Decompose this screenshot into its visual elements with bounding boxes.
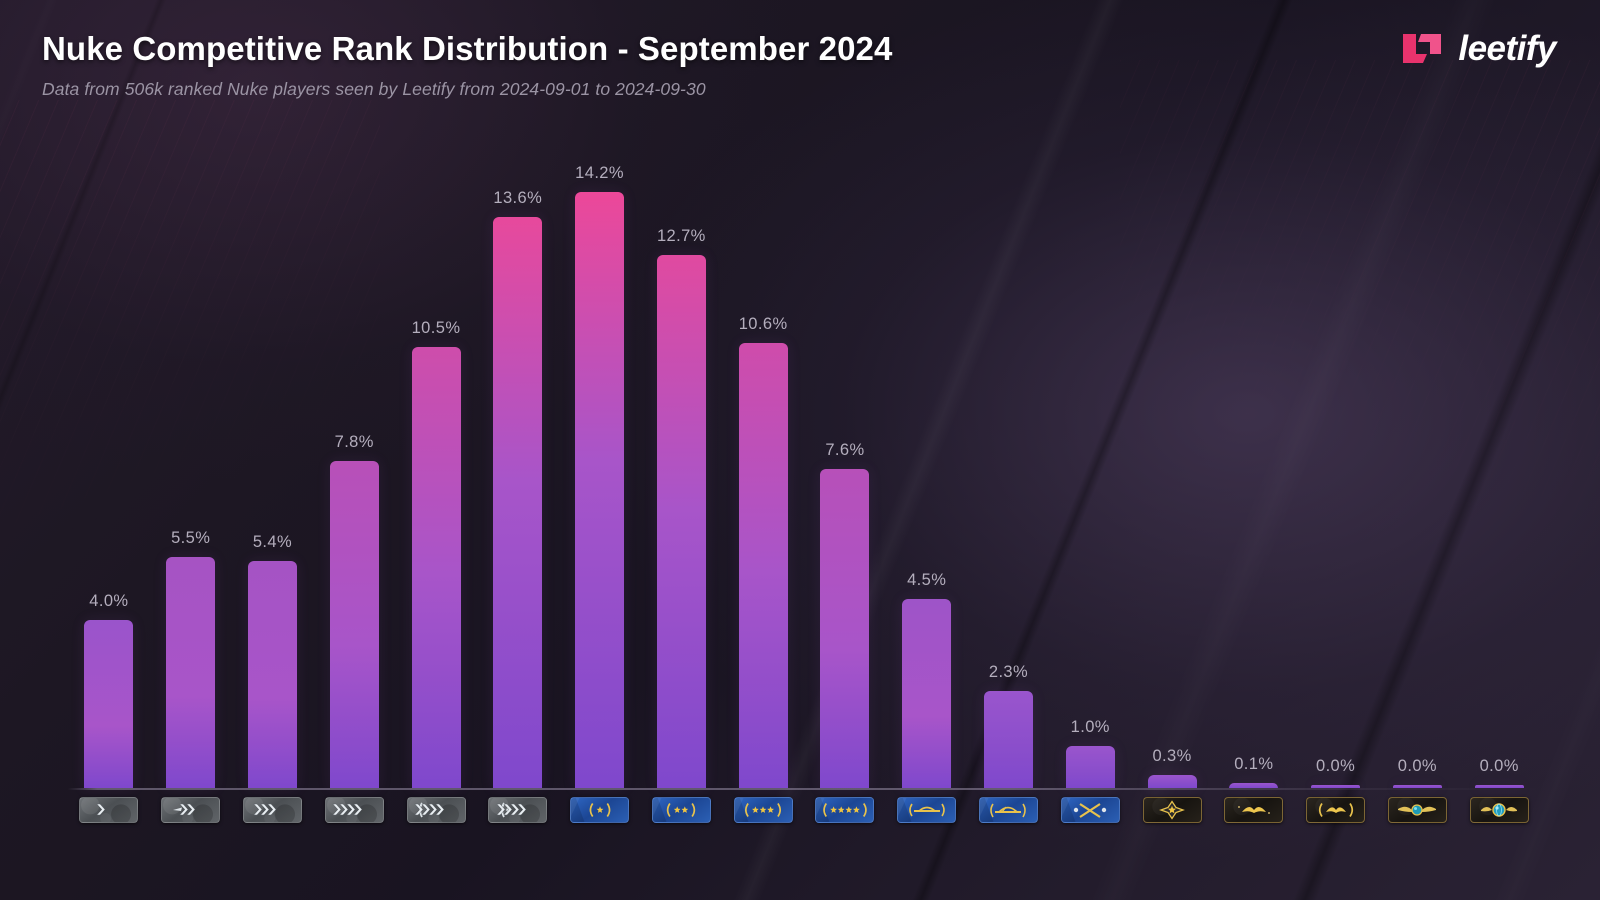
chart-subtitle: Data from 506k ranked Nuke players seen … bbox=[42, 79, 1560, 100]
rank-icon-master-guardian-1[interactable] bbox=[897, 797, 956, 823]
rank-slot bbox=[1049, 797, 1131, 823]
bar-slot[interactable]: 0.3% bbox=[1131, 130, 1213, 788]
bar-value-label: 0.0% bbox=[1377, 757, 1459, 776]
rank-icon-distinguished-master-guardian[interactable] bbox=[1143, 797, 1202, 823]
bar-value-label: 0.0% bbox=[1295, 757, 1377, 776]
bar-value-label: 7.8% bbox=[313, 433, 395, 452]
rank-icon-master-guardian-2[interactable] bbox=[979, 797, 1038, 823]
rank-slot bbox=[886, 797, 968, 823]
rank-icon-silver-elite-master-glyph bbox=[496, 799, 540, 821]
bar[interactable] bbox=[493, 217, 542, 788]
bar-slot[interactable]: 0.0% bbox=[1295, 130, 1377, 788]
rank-icon-silver-elite[interactable] bbox=[407, 797, 466, 823]
rank-icon-gold-nova-master[interactable] bbox=[815, 797, 874, 823]
rank-slot bbox=[68, 797, 150, 823]
rank-slot bbox=[232, 797, 314, 823]
bar[interactable] bbox=[330, 461, 379, 788]
bar-value-label: 5.5% bbox=[150, 529, 232, 548]
rank-slot bbox=[968, 797, 1050, 823]
rank-icon-gold-nova-1-glyph bbox=[578, 799, 622, 821]
bar-slot[interactable]: 4.0% bbox=[68, 130, 150, 788]
bar-slot[interactable]: 2.3% bbox=[968, 130, 1050, 788]
rank-icon-supreme-master-first-class[interactable] bbox=[1388, 797, 1447, 823]
bar[interactable] bbox=[412, 347, 461, 788]
leetify-logo-mark bbox=[1401, 30, 1445, 66]
bar[interactable] bbox=[1066, 746, 1115, 788]
bar-value-label: 0.3% bbox=[1131, 747, 1213, 766]
bar-slot[interactable]: 10.5% bbox=[395, 130, 477, 788]
bar-slot[interactable]: 5.5% bbox=[150, 130, 232, 788]
bar[interactable] bbox=[1148, 775, 1197, 788]
x-axis-line bbox=[68, 788, 1540, 790]
bar-slot[interactable]: 7.6% bbox=[804, 130, 886, 788]
rank-icon-axis bbox=[68, 795, 1540, 825]
rank-icon-legendary-eagle-master-glyph bbox=[1314, 799, 1358, 821]
bar-value-label: 10.6% bbox=[722, 315, 804, 334]
rank-icon-silver-2[interactable] bbox=[161, 797, 220, 823]
rank-icon-silver-3-glyph bbox=[250, 799, 294, 821]
bar-slot[interactable]: 7.8% bbox=[313, 130, 395, 788]
rank-slot bbox=[477, 797, 559, 823]
rank-slot bbox=[150, 797, 232, 823]
bar-value-label: 7.6% bbox=[804, 441, 886, 460]
bar[interactable] bbox=[902, 599, 951, 788]
rank-icon-gold-nova-2[interactable] bbox=[652, 797, 711, 823]
bar-value-label: 5.4% bbox=[232, 533, 314, 552]
bar-slot[interactable]: 0.1% bbox=[1213, 130, 1295, 788]
bar-slot[interactable]: 0.0% bbox=[1458, 130, 1540, 788]
bar[interactable] bbox=[739, 343, 788, 788]
rank-slot bbox=[313, 797, 395, 823]
rank-slot bbox=[1213, 797, 1295, 823]
bar-value-label: 2.3% bbox=[968, 663, 1050, 682]
rank-slot bbox=[722, 797, 804, 823]
bar-value-label: 4.5% bbox=[886, 571, 968, 590]
rank-slot bbox=[640, 797, 722, 823]
rank-slot bbox=[395, 797, 477, 823]
bar-value-label: 12.7% bbox=[640, 227, 722, 246]
rank-icon-silver-4[interactable] bbox=[325, 797, 384, 823]
rank-slot bbox=[1131, 797, 1213, 823]
rank-icon-legendary-eagle-master[interactable] bbox=[1306, 797, 1365, 823]
bar-slot[interactable]: 10.6% bbox=[722, 130, 804, 788]
rank-icon-silver-3[interactable] bbox=[243, 797, 302, 823]
rank-slot bbox=[1295, 797, 1377, 823]
bar-value-label: 14.2% bbox=[559, 164, 641, 183]
rank-icon-master-guardian-elite-glyph bbox=[1068, 799, 1112, 821]
rank-icon-gold-nova-1[interactable] bbox=[570, 797, 629, 823]
rank-icon-master-guardian-elite[interactable] bbox=[1061, 797, 1120, 823]
bar-value-label: 0.0% bbox=[1458, 757, 1540, 776]
bar-value-label: 4.0% bbox=[68, 592, 150, 611]
rank-slot bbox=[1458, 797, 1540, 823]
bar-slot[interactable]: 12.7% bbox=[640, 130, 722, 788]
rank-slot bbox=[559, 797, 641, 823]
rank-icon-legendary-eagle[interactable] bbox=[1224, 797, 1283, 823]
rank-icon-global-elite[interactable] bbox=[1470, 797, 1529, 823]
bar[interactable] bbox=[657, 255, 706, 788]
rank-icon-legendary-eagle-glyph bbox=[1232, 799, 1276, 821]
bar-slot[interactable]: 0.0% bbox=[1377, 130, 1459, 788]
rank-icon-silver-elite-master[interactable] bbox=[488, 797, 547, 823]
rank-icon-gold-nova-master-glyph bbox=[823, 799, 867, 821]
bar-slot[interactable]: 14.2% bbox=[559, 130, 641, 788]
leetify-logo[interactable]: leetify bbox=[1401, 30, 1556, 66]
bar-slot[interactable]: 5.4% bbox=[232, 130, 314, 788]
rank-icon-silver-1[interactable] bbox=[79, 797, 138, 823]
rank-icon-gold-nova-3-glyph bbox=[741, 799, 785, 821]
bar-value-label: 1.0% bbox=[1049, 718, 1131, 737]
bar-value-label: 13.6% bbox=[477, 189, 559, 208]
bar-value-label: 0.1% bbox=[1213, 755, 1295, 774]
rank-icon-gold-nova-3[interactable] bbox=[734, 797, 793, 823]
chart-header: Nuke Competitive Rank Distribution - Sep… bbox=[42, 30, 1560, 120]
bar-group: 4.0%5.5%5.4%7.8%10.5%13.6%14.2%12.7%10.6… bbox=[68, 130, 1540, 788]
rank-icon-global-elite-glyph bbox=[1477, 799, 1521, 821]
bar[interactable] bbox=[820, 469, 869, 788]
rank-slot bbox=[1377, 797, 1459, 823]
rank-icon-master-guardian-1-glyph bbox=[905, 799, 949, 821]
rank-icon-silver-4-glyph bbox=[332, 799, 376, 821]
rank-icon-distinguished-master-guardian-glyph bbox=[1150, 799, 1194, 821]
bar-slot[interactable]: 1.0% bbox=[1049, 130, 1131, 788]
bar-value-label: 10.5% bbox=[395, 319, 477, 338]
rank-icon-master-guardian-2-glyph bbox=[986, 799, 1030, 821]
rank-icon-silver-1-glyph bbox=[87, 799, 131, 821]
rank-icon-supreme-master-first-class-glyph bbox=[1395, 799, 1439, 821]
bar[interactable] bbox=[575, 192, 624, 788]
rank-icon-silver-elite-glyph bbox=[414, 799, 458, 821]
bar[interactable] bbox=[166, 557, 215, 788]
rank-slot bbox=[804, 797, 886, 823]
rank-icon-silver-2-glyph bbox=[169, 799, 213, 821]
page-title: Nuke Competitive Rank Distribution - Sep… bbox=[42, 30, 1560, 68]
bar-slot[interactable]: 13.6% bbox=[477, 130, 559, 788]
chart-canvas: Nuke Competitive Rank Distribution - Sep… bbox=[0, 0, 1600, 900]
bar-chart-plot: 4.0%5.5%5.4%7.8%10.5%13.6%14.2%12.7%10.6… bbox=[0, 130, 1600, 790]
bar-slot[interactable]: 4.5% bbox=[886, 130, 968, 788]
rank-icon-gold-nova-2-glyph bbox=[659, 799, 703, 821]
bar[interactable] bbox=[84, 620, 133, 788]
leetify-logo-text: leetify bbox=[1458, 31, 1556, 66]
bar[interactable] bbox=[984, 691, 1033, 788]
bar[interactable] bbox=[248, 561, 297, 788]
